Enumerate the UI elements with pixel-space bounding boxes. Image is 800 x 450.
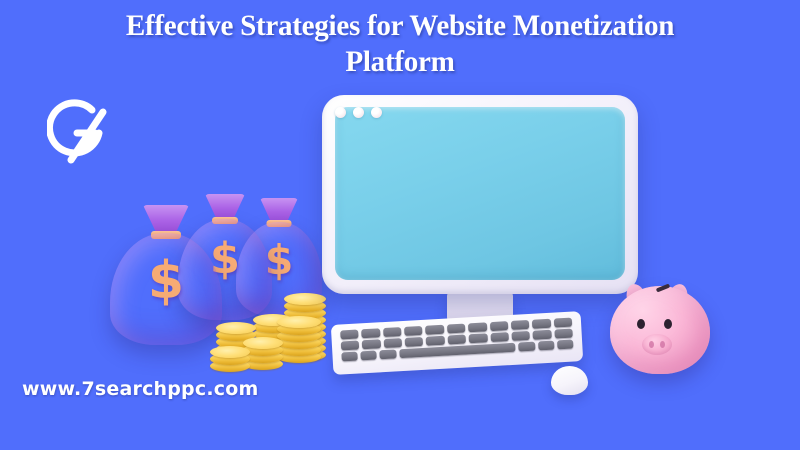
coin-stack xyxy=(210,338,250,372)
piggy-bank xyxy=(608,278,712,376)
key[interactable] xyxy=(511,331,530,341)
key[interactable] xyxy=(362,339,381,349)
promo-banner: Effective Strategies for Website Monetiz… xyxy=(0,0,800,450)
keyboard[interactable] xyxy=(331,311,583,375)
piggy-eye-left xyxy=(637,319,645,329)
money-bag: $ xyxy=(110,205,222,345)
key[interactable] xyxy=(511,320,530,330)
key[interactable] xyxy=(447,324,466,334)
window-control-dot-maximize[interactable] xyxy=(371,107,382,118)
key[interactable] xyxy=(557,340,574,350)
key[interactable] xyxy=(533,330,552,340)
coin-stack xyxy=(277,313,321,363)
key[interactable] xyxy=(447,335,466,345)
key[interactable] xyxy=(383,327,402,337)
coin xyxy=(277,316,321,328)
key[interactable] xyxy=(341,340,360,350)
window-control-dot-minimize[interactable] xyxy=(353,107,364,118)
key[interactable] xyxy=(538,341,555,351)
monitor-screen[interactable] xyxy=(335,107,625,280)
key[interactable] xyxy=(490,332,509,342)
dollar-sign-icon: $ xyxy=(148,255,184,307)
window-controls[interactable] xyxy=(335,107,382,118)
piggy-nostril-left xyxy=(649,341,654,348)
key[interactable] xyxy=(380,349,397,359)
key[interactable] xyxy=(361,328,380,338)
key[interactable] xyxy=(469,333,488,343)
piggy-body xyxy=(610,286,710,374)
key[interactable] xyxy=(361,350,378,360)
key[interactable] xyxy=(426,336,445,346)
key[interactable] xyxy=(553,318,572,328)
7searchppc-logo xyxy=(47,95,119,175)
piggy-snout xyxy=(642,334,672,355)
piggy-eye-right xyxy=(664,319,672,329)
key[interactable] xyxy=(405,337,424,347)
window-control-dot-close[interactable] xyxy=(335,107,346,118)
key[interactable] xyxy=(340,329,359,339)
key[interactable] xyxy=(468,322,487,332)
key[interactable] xyxy=(532,319,551,329)
key[interactable] xyxy=(489,321,508,331)
page-title: Effective Strategies for Website Monetiz… xyxy=(61,8,740,80)
computer-mouse[interactable] xyxy=(551,366,588,395)
key[interactable] xyxy=(383,338,402,348)
key[interactable] xyxy=(518,342,535,352)
coin xyxy=(210,346,250,358)
piggy-nostril-right xyxy=(660,341,665,348)
key[interactable] xyxy=(554,329,573,339)
key[interactable] xyxy=(341,352,358,362)
website-url[interactable]: www.7searchppc.com xyxy=(22,378,258,400)
money-bag-neck xyxy=(143,205,189,233)
key[interactable] xyxy=(425,325,444,335)
desktop-monitor[interactable] xyxy=(322,95,638,294)
key[interactable] xyxy=(404,326,423,336)
